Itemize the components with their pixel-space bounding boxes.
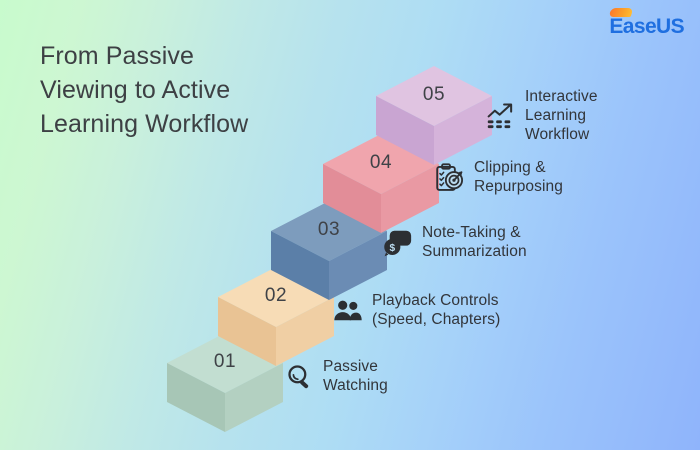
step-label-05[interactable]: Interactive Learning Workflow: [486, 88, 598, 145]
magnifier-icon: [286, 363, 314, 391]
svg-text:$: $: [390, 243, 396, 254]
cube-shape-05: [374, 66, 494, 166]
step-text-02: Playback Controls (Speed, Chapters): [372, 292, 500, 330]
users-icon: [333, 297, 363, 325]
easeus-logo[interactable]: EaseUS: [609, 14, 684, 40]
page-title: From Passive Viewing to Active Learning …: [40, 40, 330, 141]
swoosh-icon: [609, 8, 634, 17]
infographic-canvas: From Passive Viewing to Active Learning …: [0, 0, 700, 450]
logo-text: EaseUS: [609, 15, 684, 39]
step-text-05: Interactive Learning Workflow: [525, 88, 598, 145]
clipboard-target-icon: [435, 163, 465, 193]
step-cube-05[interactable]: 05: [374, 66, 494, 166]
growth-chart-icon: [486, 101, 516, 131]
